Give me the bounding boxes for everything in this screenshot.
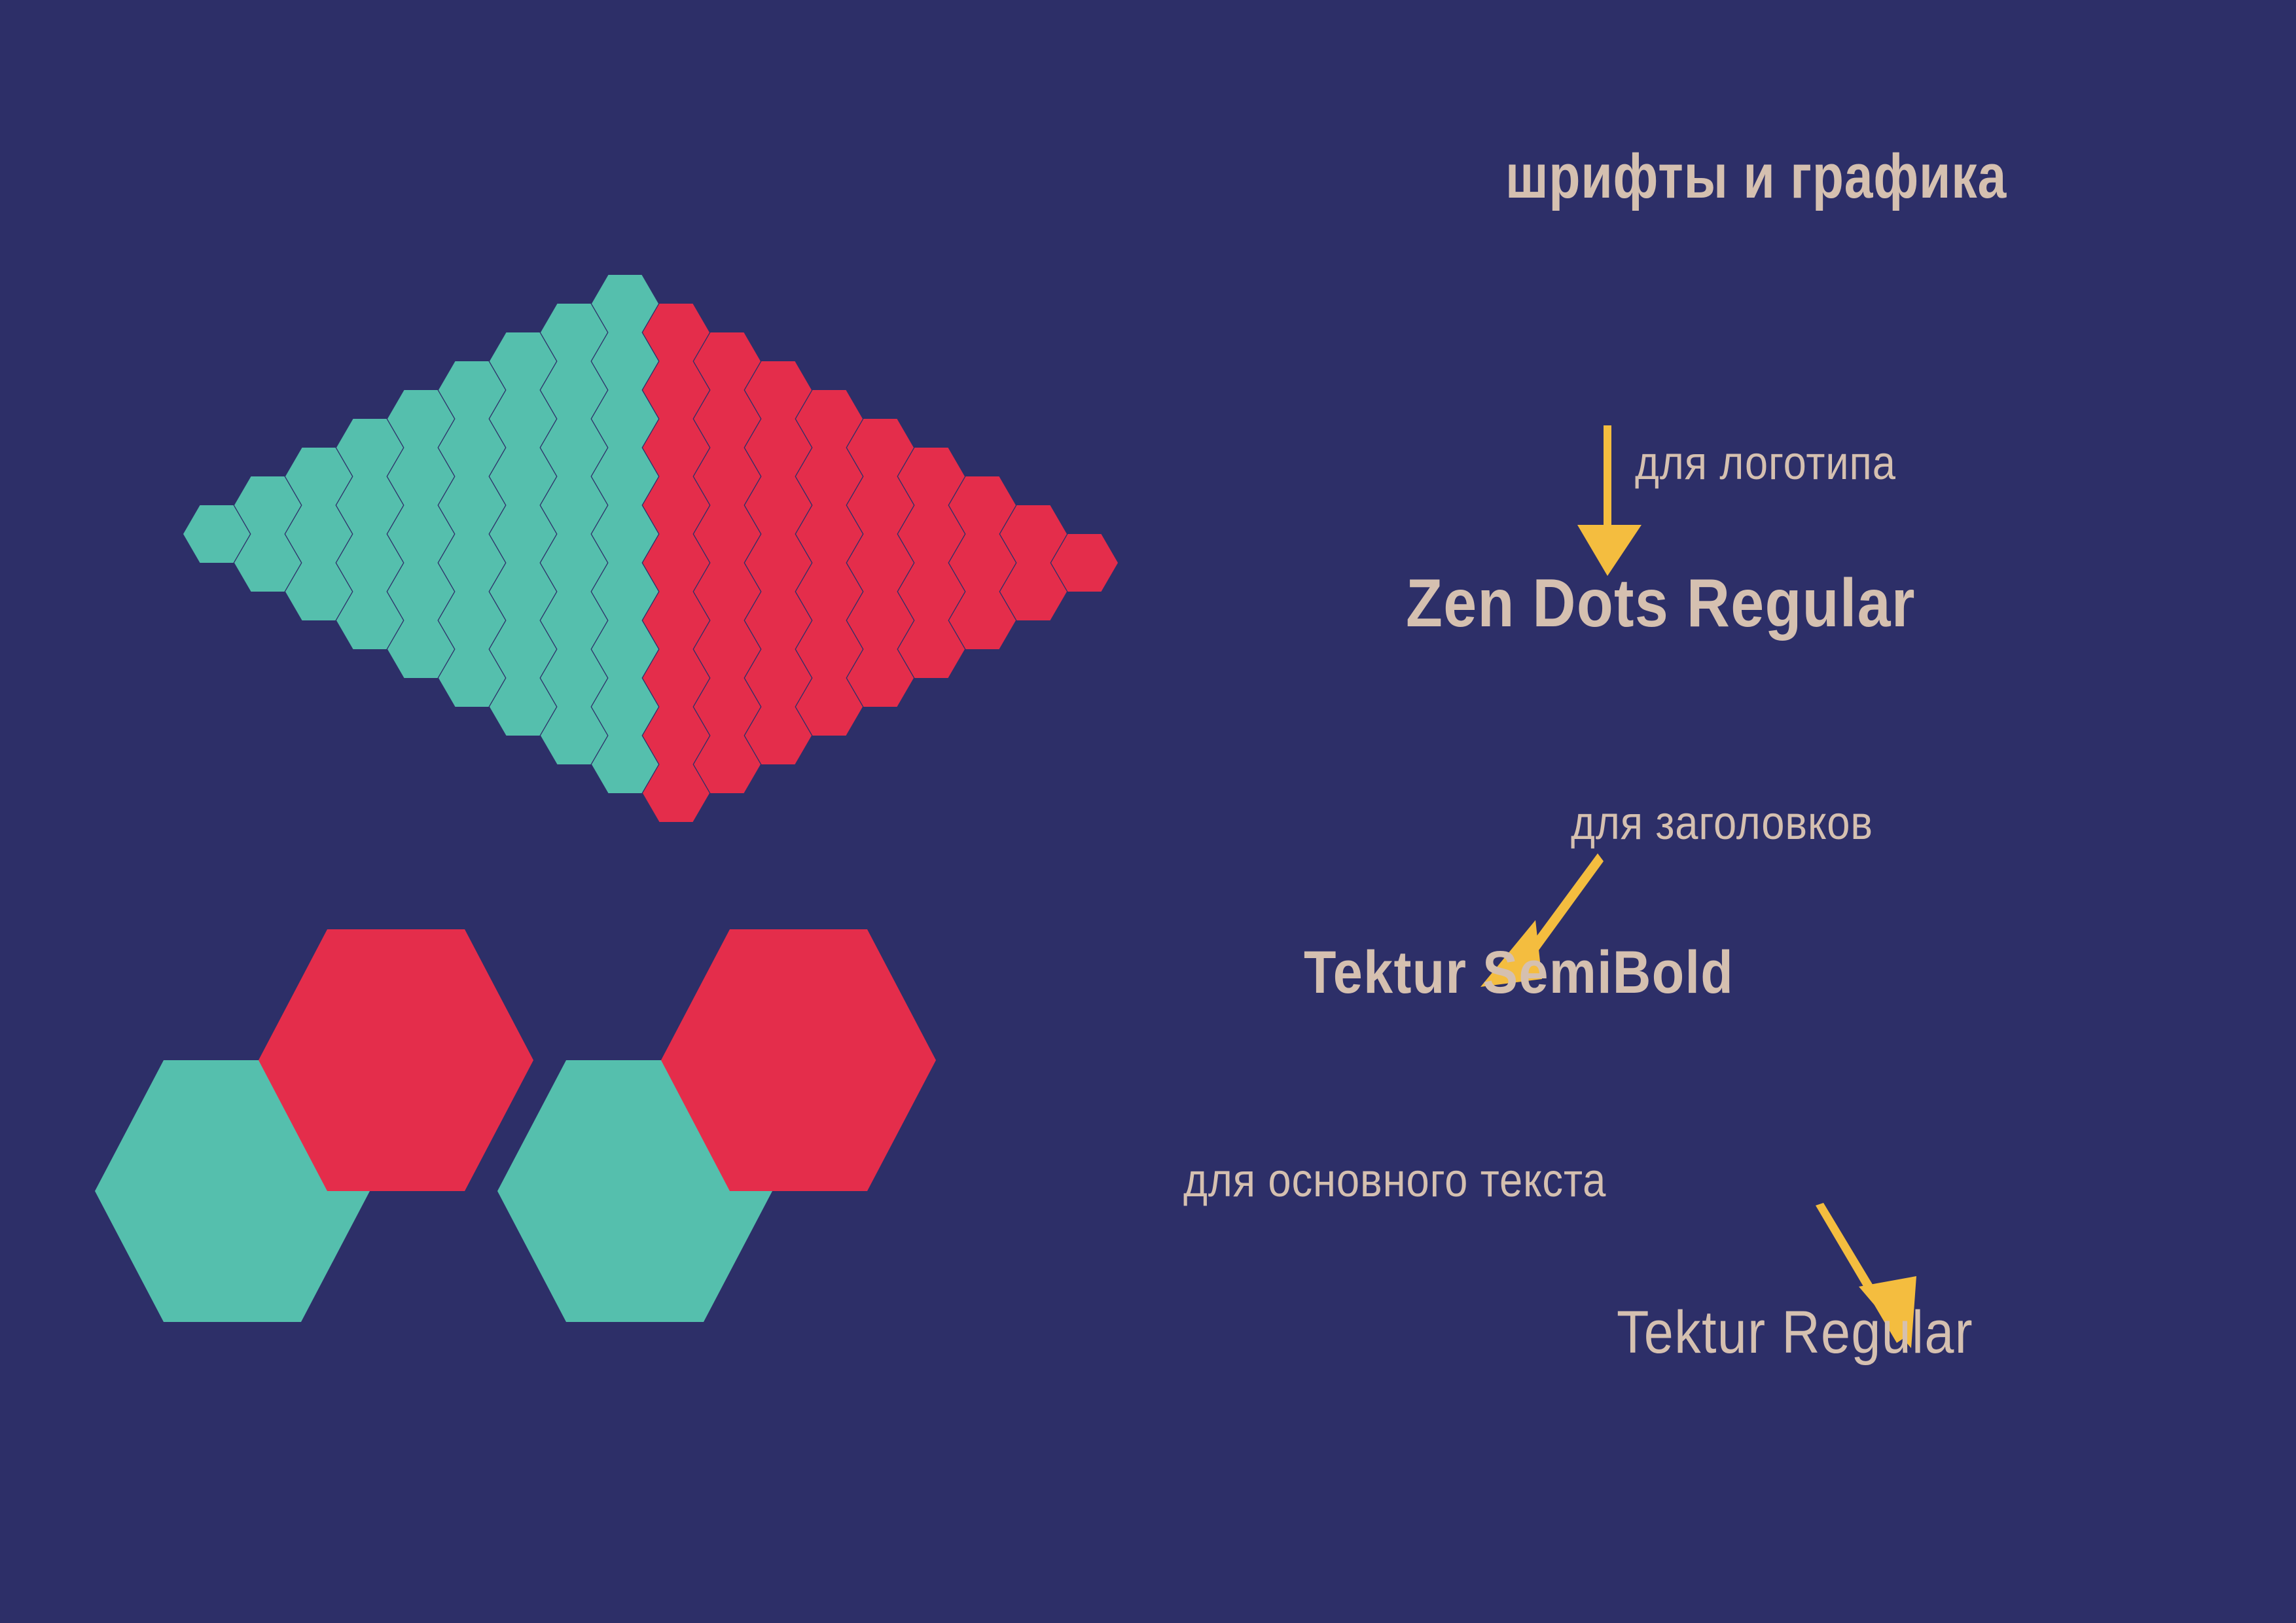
hexagon-diamond-svg (183, 275, 1178, 851)
font-name-logo: Zen Dots Regular (1406, 569, 1916, 637)
hexagon-row-pattern (79, 903, 1100, 1374)
hexagon-diamond-pattern (183, 275, 1178, 851)
hex-diamond-teal-half (183, 275, 658, 793)
annotation-caption-logo: для логотипа (1635, 440, 1896, 487)
hex-diamond-red-half (643, 304, 1118, 822)
hexagon-row-svg (79, 903, 1100, 1374)
annotation-caption-headings: для заголовков (1571, 800, 1873, 847)
font-name-body: Tektur Regular (1617, 1302, 1973, 1363)
slide-canvas: шрифты и графика (0, 0, 2296, 1623)
down-arrow-icon (1573, 425, 1645, 576)
annotation-caption-body: для основного текста (1183, 1157, 1606, 1204)
font-name-headings: Tektur SemiBold (1304, 942, 1734, 1003)
page-title: шрифты и графика (1505, 145, 2007, 208)
